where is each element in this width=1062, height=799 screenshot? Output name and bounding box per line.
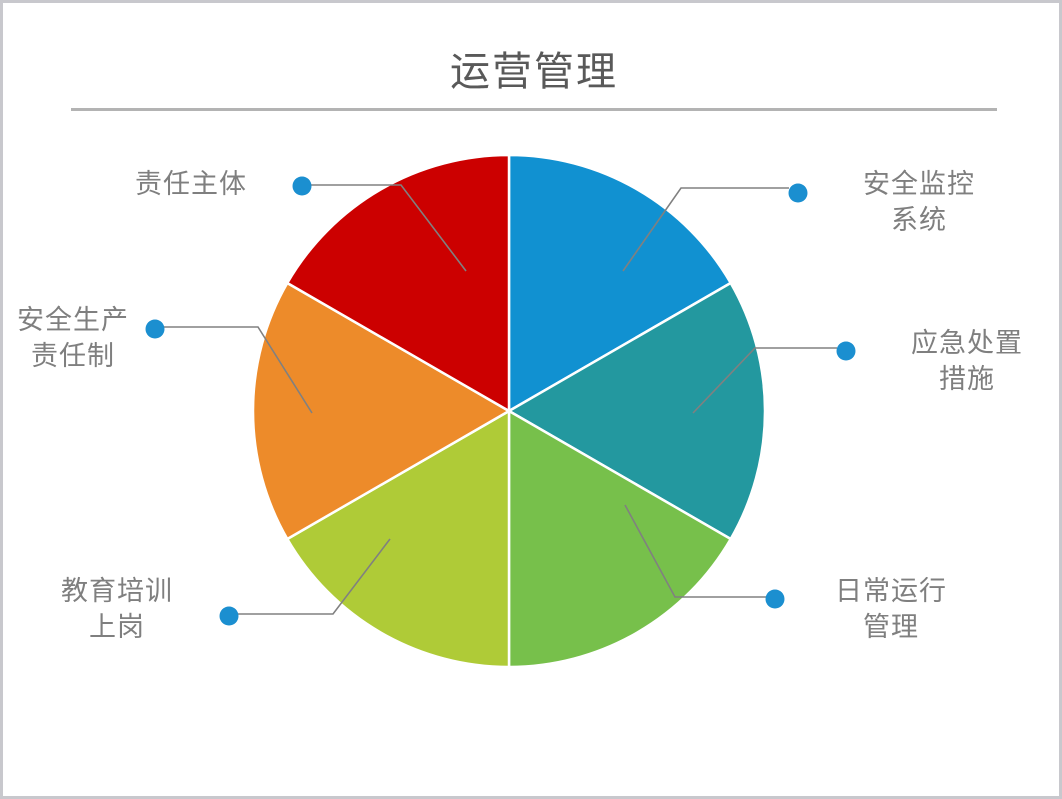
pie-label-safety-production-responsibility: 安全生产 责任制 xyxy=(0,302,169,374)
connector-dot-daily-operation-management[interactable] xyxy=(766,590,785,609)
connector-dot-emergency-response-measures[interactable] xyxy=(837,342,856,361)
slide-canvas: 运营管理 安全监控 系统应急处置 措施日常运行 管理教育培训 上岗安全生产 责任… xyxy=(0,0,1062,799)
pie-chart-svg xyxy=(3,3,1062,799)
pie-label-emergency-response-measures: 应急处置 措施 xyxy=(871,325,1062,397)
pie-slices xyxy=(253,155,765,667)
pie-chart: 安全监控 系统应急处置 措施日常运行 管理教育培训 上岗安全生产 责任制责任主体 xyxy=(3,3,1062,799)
pie-label-responsible-entity: 责任主体 xyxy=(95,166,287,202)
pie-label-education-training-onboarding: 教育培训 上岗 xyxy=(21,573,213,645)
connector-dot-responsible-entity[interactable] xyxy=(293,177,312,196)
pie-label-safety-monitoring-system: 安全监控 系统 xyxy=(823,166,1015,238)
pie-label-daily-operation-management: 日常运行 管理 xyxy=(795,573,987,645)
connector-dot-education-training-onboarding[interactable] xyxy=(220,607,239,626)
connector-dot-safety-monitoring-system[interactable] xyxy=(789,184,808,203)
